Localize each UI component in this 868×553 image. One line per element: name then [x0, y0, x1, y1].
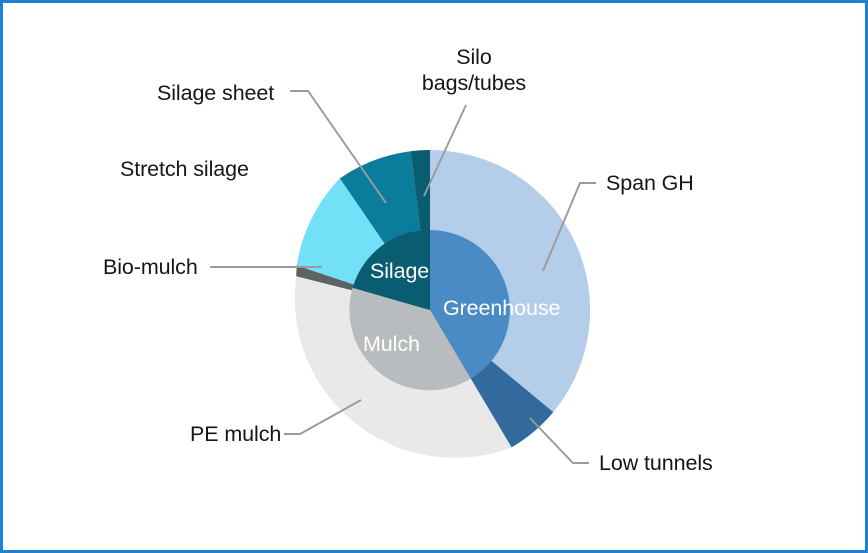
callout-label-silage-sheet: Silage sheet	[157, 80, 274, 106]
callout-label-pe-mulch: PE mulch	[190, 421, 281, 447]
callout-label-bio-mulch: Bio-mulch	[103, 254, 198, 280]
callout-label-stretch-silage: Stretch silage	[120, 156, 249, 182]
callout-label-silo-bags-line2: bags/tubes	[422, 71, 526, 95]
callout-label-silo-bags-tubes: Silobags/tubes	[404, 44, 544, 96]
inner-label-mulch: Mulch	[363, 332, 420, 357]
callout-label-span-gh: Span GH	[606, 170, 694, 196]
sunburst-chart: Silage Greenhouse Mulch Silage sheet Sil…	[0, 0, 868, 553]
callout-label-silo-bags-line1: Silo	[456, 45, 491, 69]
chart-page: Silage Greenhouse Mulch Silage sheet Sil…	[0, 0, 868, 553]
callout-label-low-tunnels: Low tunnels	[599, 450, 713, 476]
inner-label-greenhouse: Greenhouse	[443, 296, 560, 321]
inner-label-silage: Silage	[370, 259, 429, 284]
